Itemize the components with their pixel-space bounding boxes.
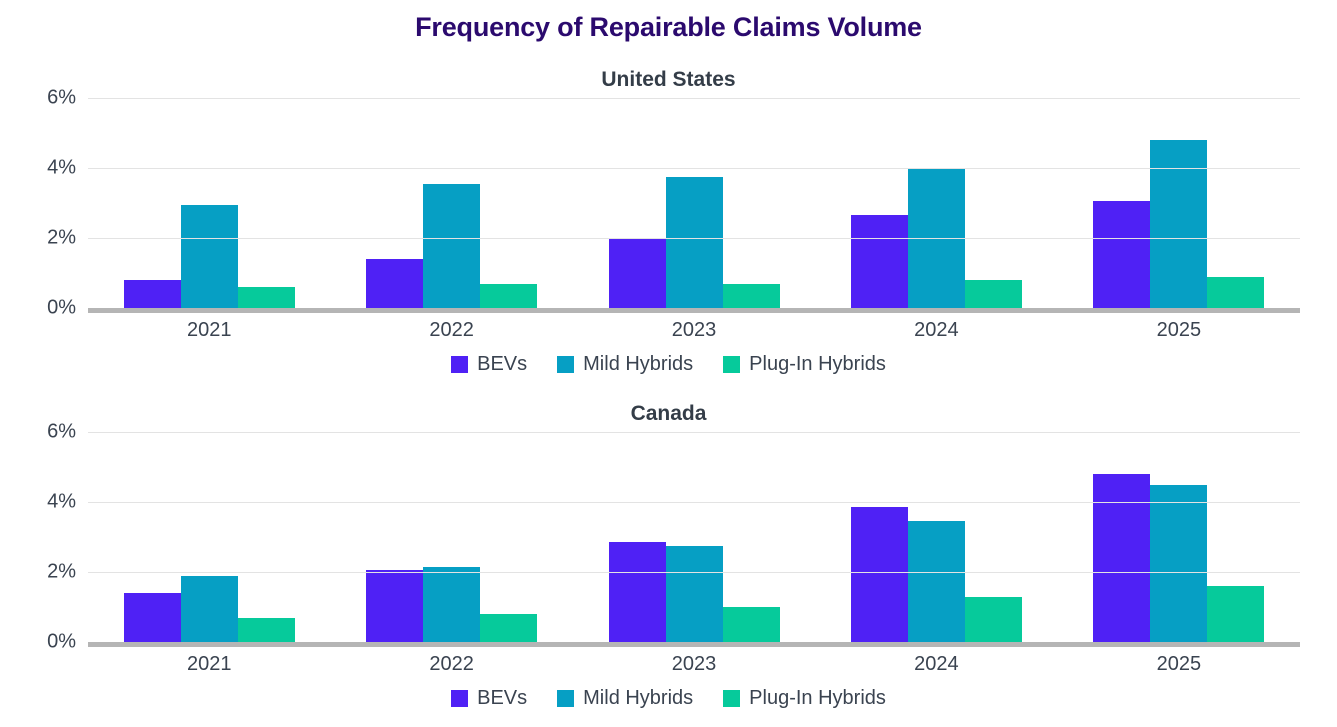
bar[interactable]: [480, 614, 537, 642]
legend: BEVsMild HybridsPlug-In Hybrids: [0, 683, 1337, 713]
bar[interactable]: [908, 521, 965, 642]
bar[interactable]: [423, 184, 480, 308]
bar[interactable]: [1093, 474, 1150, 642]
gridline: [88, 432, 1300, 433]
bar[interactable]: [423, 567, 480, 642]
bar-group: [815, 432, 1057, 642]
legend-swatch-icon: [723, 690, 740, 707]
plot: [88, 98, 1300, 313]
bar[interactable]: [1150, 140, 1207, 308]
bar-group: [330, 432, 572, 642]
gridline: [88, 572, 1300, 573]
bar-group: [573, 432, 815, 642]
x-axis-tick-label: 2025: [1058, 313, 1300, 347]
chart-panel-united-states: United States 0%2%4%6% 20212022202320242…: [0, 66, 1337, 379]
bar[interactable]: [1150, 485, 1207, 643]
bar-groups: [88, 98, 1300, 308]
bar[interactable]: [666, 177, 723, 308]
bar-group: [815, 98, 1057, 308]
legend-item[interactable]: BEVs: [451, 687, 527, 710]
bar[interactable]: [181, 205, 238, 308]
bar[interactable]: [480, 284, 537, 309]
bar[interactable]: [723, 284, 780, 309]
bar-group: [1058, 432, 1300, 642]
bar[interactable]: [851, 507, 908, 642]
x-axis-tick-label: 2022: [330, 313, 572, 347]
bar[interactable]: [965, 280, 1022, 308]
y-axis-tick-label: 0%: [47, 631, 76, 654]
x-axis-tick-label: 2021: [88, 313, 330, 347]
y-axis-tick-label: 0%: [47, 297, 76, 320]
bar[interactable]: [181, 576, 238, 643]
legend-item[interactable]: BEVs: [451, 353, 527, 376]
legend-item[interactable]: Plug-In Hybrids: [723, 687, 886, 710]
legend-item[interactable]: Mild Hybrids: [557, 353, 693, 376]
x-axis-tick-label: 2022: [330, 647, 572, 681]
gridline: [88, 502, 1300, 503]
bar-group: [88, 98, 330, 308]
legend-label: BEVs: [477, 687, 527, 710]
bar[interactable]: [366, 259, 423, 308]
legend-swatch-icon: [557, 356, 574, 373]
y-axis-tick-label: 6%: [47, 87, 76, 110]
legend-swatch-icon: [451, 356, 468, 373]
bar[interactable]: [1207, 277, 1264, 309]
x-axis-tick-label: 2024: [815, 313, 1057, 347]
bar[interactable]: [366, 570, 423, 642]
legend-swatch-icon: [451, 690, 468, 707]
y-axis-tick-label: 4%: [47, 491, 76, 514]
bar[interactable]: [609, 542, 666, 642]
legend-label: BEVs: [477, 353, 527, 376]
bar[interactable]: [1093, 201, 1150, 308]
chart-page: Frequency of Repairable Claims Volume Un…: [0, 0, 1337, 727]
bar-group: [88, 432, 330, 642]
bar[interactable]: [723, 607, 780, 642]
legend-swatch-icon: [723, 356, 740, 373]
bar-groups: [88, 432, 1300, 642]
bar[interactable]: [666, 546, 723, 642]
plot-area: 0%2%4%6%: [0, 98, 1337, 313]
bar[interactable]: [124, 280, 181, 308]
bar[interactable]: [124, 593, 181, 642]
y-axis-tick-label: 4%: [47, 157, 76, 180]
legend: BEVsMild HybridsPlug-In Hybrids: [0, 349, 1337, 379]
chart-panel-canada: Canada 0%2%4%6% 20212022202320242025 BEV…: [0, 400, 1337, 713]
x-axis-tick-label: 2024: [815, 647, 1057, 681]
plot-area: 0%2%4%6%: [0, 432, 1337, 647]
legend-item[interactable]: Plug-In Hybrids: [723, 353, 886, 376]
page-title: Frequency of Repairable Claims Volume: [0, 12, 1337, 43]
bar[interactable]: [609, 238, 666, 308]
panel-subtitle: Canada: [0, 400, 1337, 428]
y-axis: 0%2%4%6%: [0, 432, 88, 647]
bar-group: [573, 98, 815, 308]
bar[interactable]: [238, 287, 295, 308]
x-axis: 20212022202320242025: [88, 647, 1300, 681]
bar[interactable]: [238, 618, 295, 643]
x-axis: 20212022202320242025: [88, 313, 1300, 347]
y-axis: 0%2%4%6%: [0, 98, 88, 313]
gridline: [88, 238, 1300, 239]
x-axis-tick-label: 2023: [573, 313, 815, 347]
legend-label: Plug-In Hybrids: [749, 353, 886, 376]
y-axis-tick-label: 2%: [47, 227, 76, 250]
x-axis-tick-label: 2023: [573, 647, 815, 681]
bar[interactable]: [851, 215, 908, 308]
bar-group: [1058, 98, 1300, 308]
plot: [88, 432, 1300, 647]
y-axis-tick-label: 6%: [47, 421, 76, 444]
gridline: [88, 168, 1300, 169]
legend-item[interactable]: Mild Hybrids: [557, 687, 693, 710]
legend-label: Mild Hybrids: [583, 687, 693, 710]
gridline: [88, 98, 1300, 99]
y-axis-tick-label: 2%: [47, 561, 76, 584]
panel-subtitle: United States: [0, 66, 1337, 94]
x-axis-tick-label: 2025: [1058, 647, 1300, 681]
legend-label: Mild Hybrids: [583, 353, 693, 376]
x-axis-tick-label: 2021: [88, 647, 330, 681]
legend-swatch-icon: [557, 690, 574, 707]
legend-label: Plug-In Hybrids: [749, 687, 886, 710]
bar[interactable]: [1207, 586, 1264, 642]
bar-group: [330, 98, 572, 308]
bar[interactable]: [965, 597, 1022, 643]
